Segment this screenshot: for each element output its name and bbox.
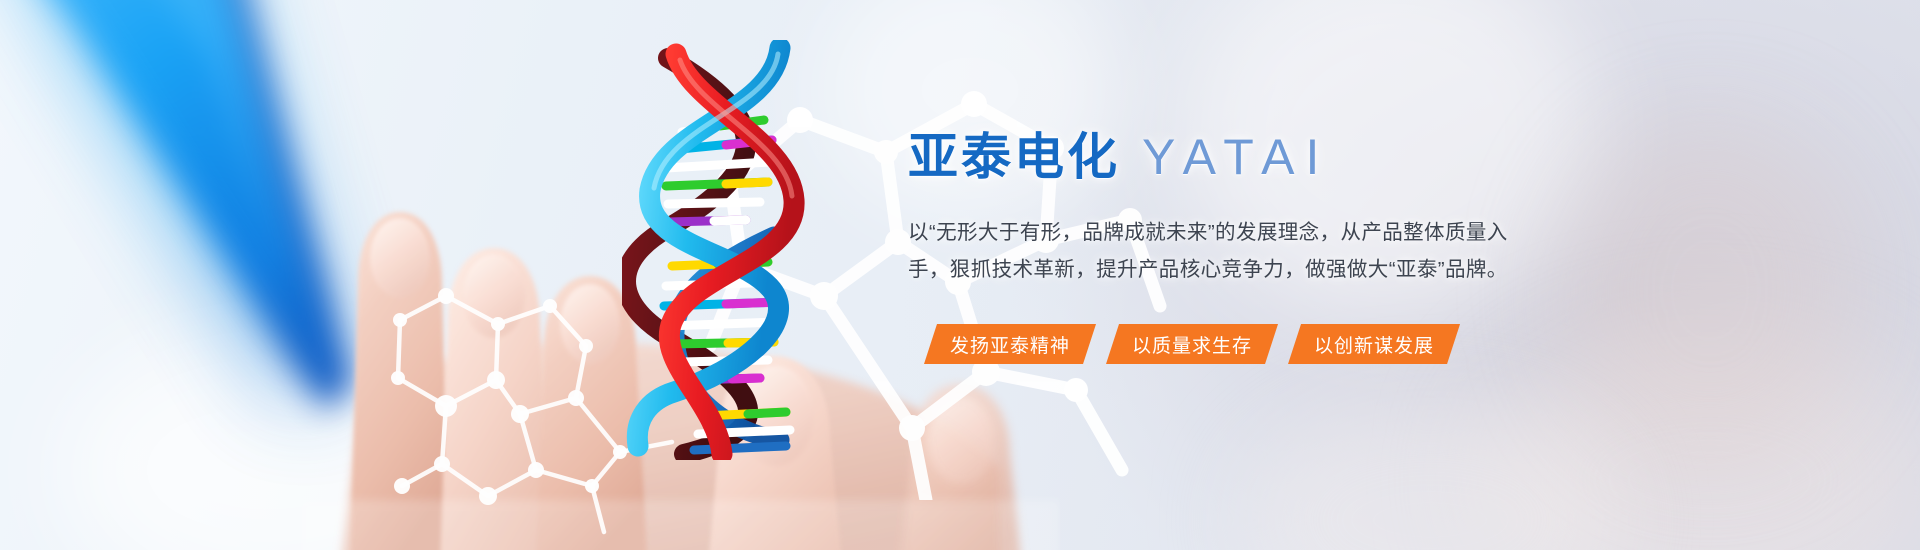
banner-description: 以“无形大于有形，品牌成就未来”的发展理念，从产品整体质量入 手，狠抓技术革新，…	[908, 214, 1588, 288]
background-blob	[1560, 120, 1860, 460]
description-line-1: 以“无形大于有形，品牌成就未来”的发展理念，从产品整体质量入	[908, 214, 1588, 251]
slogan-tag-list: 发扬亚泰精神 以质量求生存 以创新谋发展	[924, 324, 1470, 364]
slogan-tag-2[interactable]: 以质量求生存	[1106, 324, 1278, 364]
dna-double-helix-icon	[622, 40, 822, 460]
background-blob	[1480, 330, 1920, 550]
slogan-tag-1[interactable]: 发扬亚泰精神	[924, 324, 1096, 364]
slogan-tag-1-label: 发扬亚泰精神	[950, 331, 1070, 358]
banner-text-block: 亚泰电化YATAI 以“无形大于有形，品牌成就未来”的发展理念，从产品整体质量入…	[908, 128, 1588, 288]
page-title: 亚泰电化YATAI	[908, 128, 1588, 186]
slogan-tag-3-label: 以创新谋发展	[1314, 331, 1434, 358]
title-chinese: 亚泰电化	[908, 129, 1120, 185]
slogan-tag-2-label: 以质量求生存	[1132, 331, 1252, 358]
description-line-2: 手，狠抓技术革新，提升产品核心竞争力，做强做大“亚泰”品牌。	[908, 251, 1588, 288]
background-blob	[1240, 400, 1620, 550]
title-english: YATAI	[1142, 129, 1330, 185]
promo-banner: 亚泰电化YATAI 以“无形大于有形，品牌成就未来”的发展理念，从产品整体质量入…	[0, 0, 1920, 550]
slogan-tag-3[interactable]: 以创新谋发展	[1288, 324, 1460, 364]
